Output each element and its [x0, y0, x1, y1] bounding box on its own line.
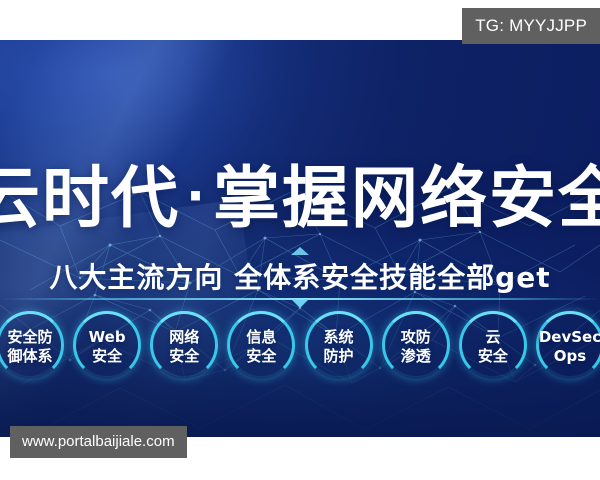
headline-part1: 云时代 — [0, 159, 180, 237]
skill-pill-line2: 防护 — [324, 347, 354, 366]
chevron-down-icon — [291, 299, 309, 308]
skill-pill-label: 网络安全 — [169, 328, 199, 366]
skill-pill-line2: 御体系 — [7, 347, 52, 366]
skill-pill-2[interactable]: 网络安全 — [148, 311, 220, 383]
skill-pill-line1: 信息 — [246, 328, 276, 346]
banner-subtitle: 八大主流方向 全体系安全技能全部get — [0, 261, 600, 295]
promo-banner: 云时代·掌握网络安全 八大主流方向 全体系安全技能全部get 安全防御体系 We… — [0, 40, 600, 437]
chevron-up-icon — [291, 247, 309, 255]
skill-pill-7[interactable]: DevSecOps — [534, 311, 600, 383]
skill-pill-row: 安全防御体系 Web安全 网络安全 信息安全 系统防护 攻防渗透 — [0, 311, 600, 391]
skill-pill-5[interactable]: 攻防渗透 — [380, 311, 452, 383]
headline-separator: · — [180, 167, 213, 225]
skill-pill-line1: 系统 — [324, 328, 354, 346]
skill-pill-line2: Ops — [539, 347, 600, 366]
skill-pill-line2: 安全 — [246, 347, 276, 366]
skill-pill-1[interactable]: Web安全 — [71, 311, 143, 383]
skill-pill-label: 攻防渗透 — [401, 328, 431, 366]
skill-pill-line2: 安全 — [89, 347, 126, 366]
skill-pill-6[interactable]: 云安全 — [457, 311, 529, 383]
skill-pill-label: Web安全 — [89, 328, 126, 366]
skill-pill-line1: 安全防 — [7, 328, 52, 346]
headline-part2: 掌握网络安全 — [213, 159, 600, 237]
skill-pill-label: 云安全 — [478, 328, 508, 366]
skill-pill-line1: Web — [89, 328, 126, 346]
site-watermark-badge: www.portalbaijiale.com — [10, 426, 187, 458]
telegram-watermark-badge: TG: MYYJJPP — [462, 8, 600, 44]
skill-pill-line2: 安全 — [478, 347, 508, 366]
skill-pill-line1: DevSec — [539, 328, 600, 346]
skill-pill-line2: 渗透 — [401, 347, 431, 366]
skill-pill-label: 系统防护 — [324, 328, 354, 366]
banner-headline: 云时代·掌握网络安全 — [0, 157, 600, 237]
skill-pill-0[interactable]: 安全防御体系 — [0, 311, 66, 383]
skill-pill-line1: 网络 — [169, 328, 199, 346]
page-canvas: 云时代·掌握网络安全 八大主流方向 全体系安全技能全部get 安全防御体系 We… — [0, 0, 600, 480]
skill-pill-label: DevSecOps — [539, 328, 600, 366]
skill-pill-4[interactable]: 系统防护 — [303, 311, 375, 383]
skill-pill-label: 信息安全 — [246, 328, 276, 366]
skill-pill-line2: 安全 — [169, 347, 199, 366]
skill-pill-label: 安全防御体系 — [7, 328, 52, 366]
skill-pill-3[interactable]: 信息安全 — [225, 311, 297, 383]
skill-pill-line1: 云 — [485, 328, 500, 346]
skill-pill-line1: 攻防 — [401, 328, 431, 346]
